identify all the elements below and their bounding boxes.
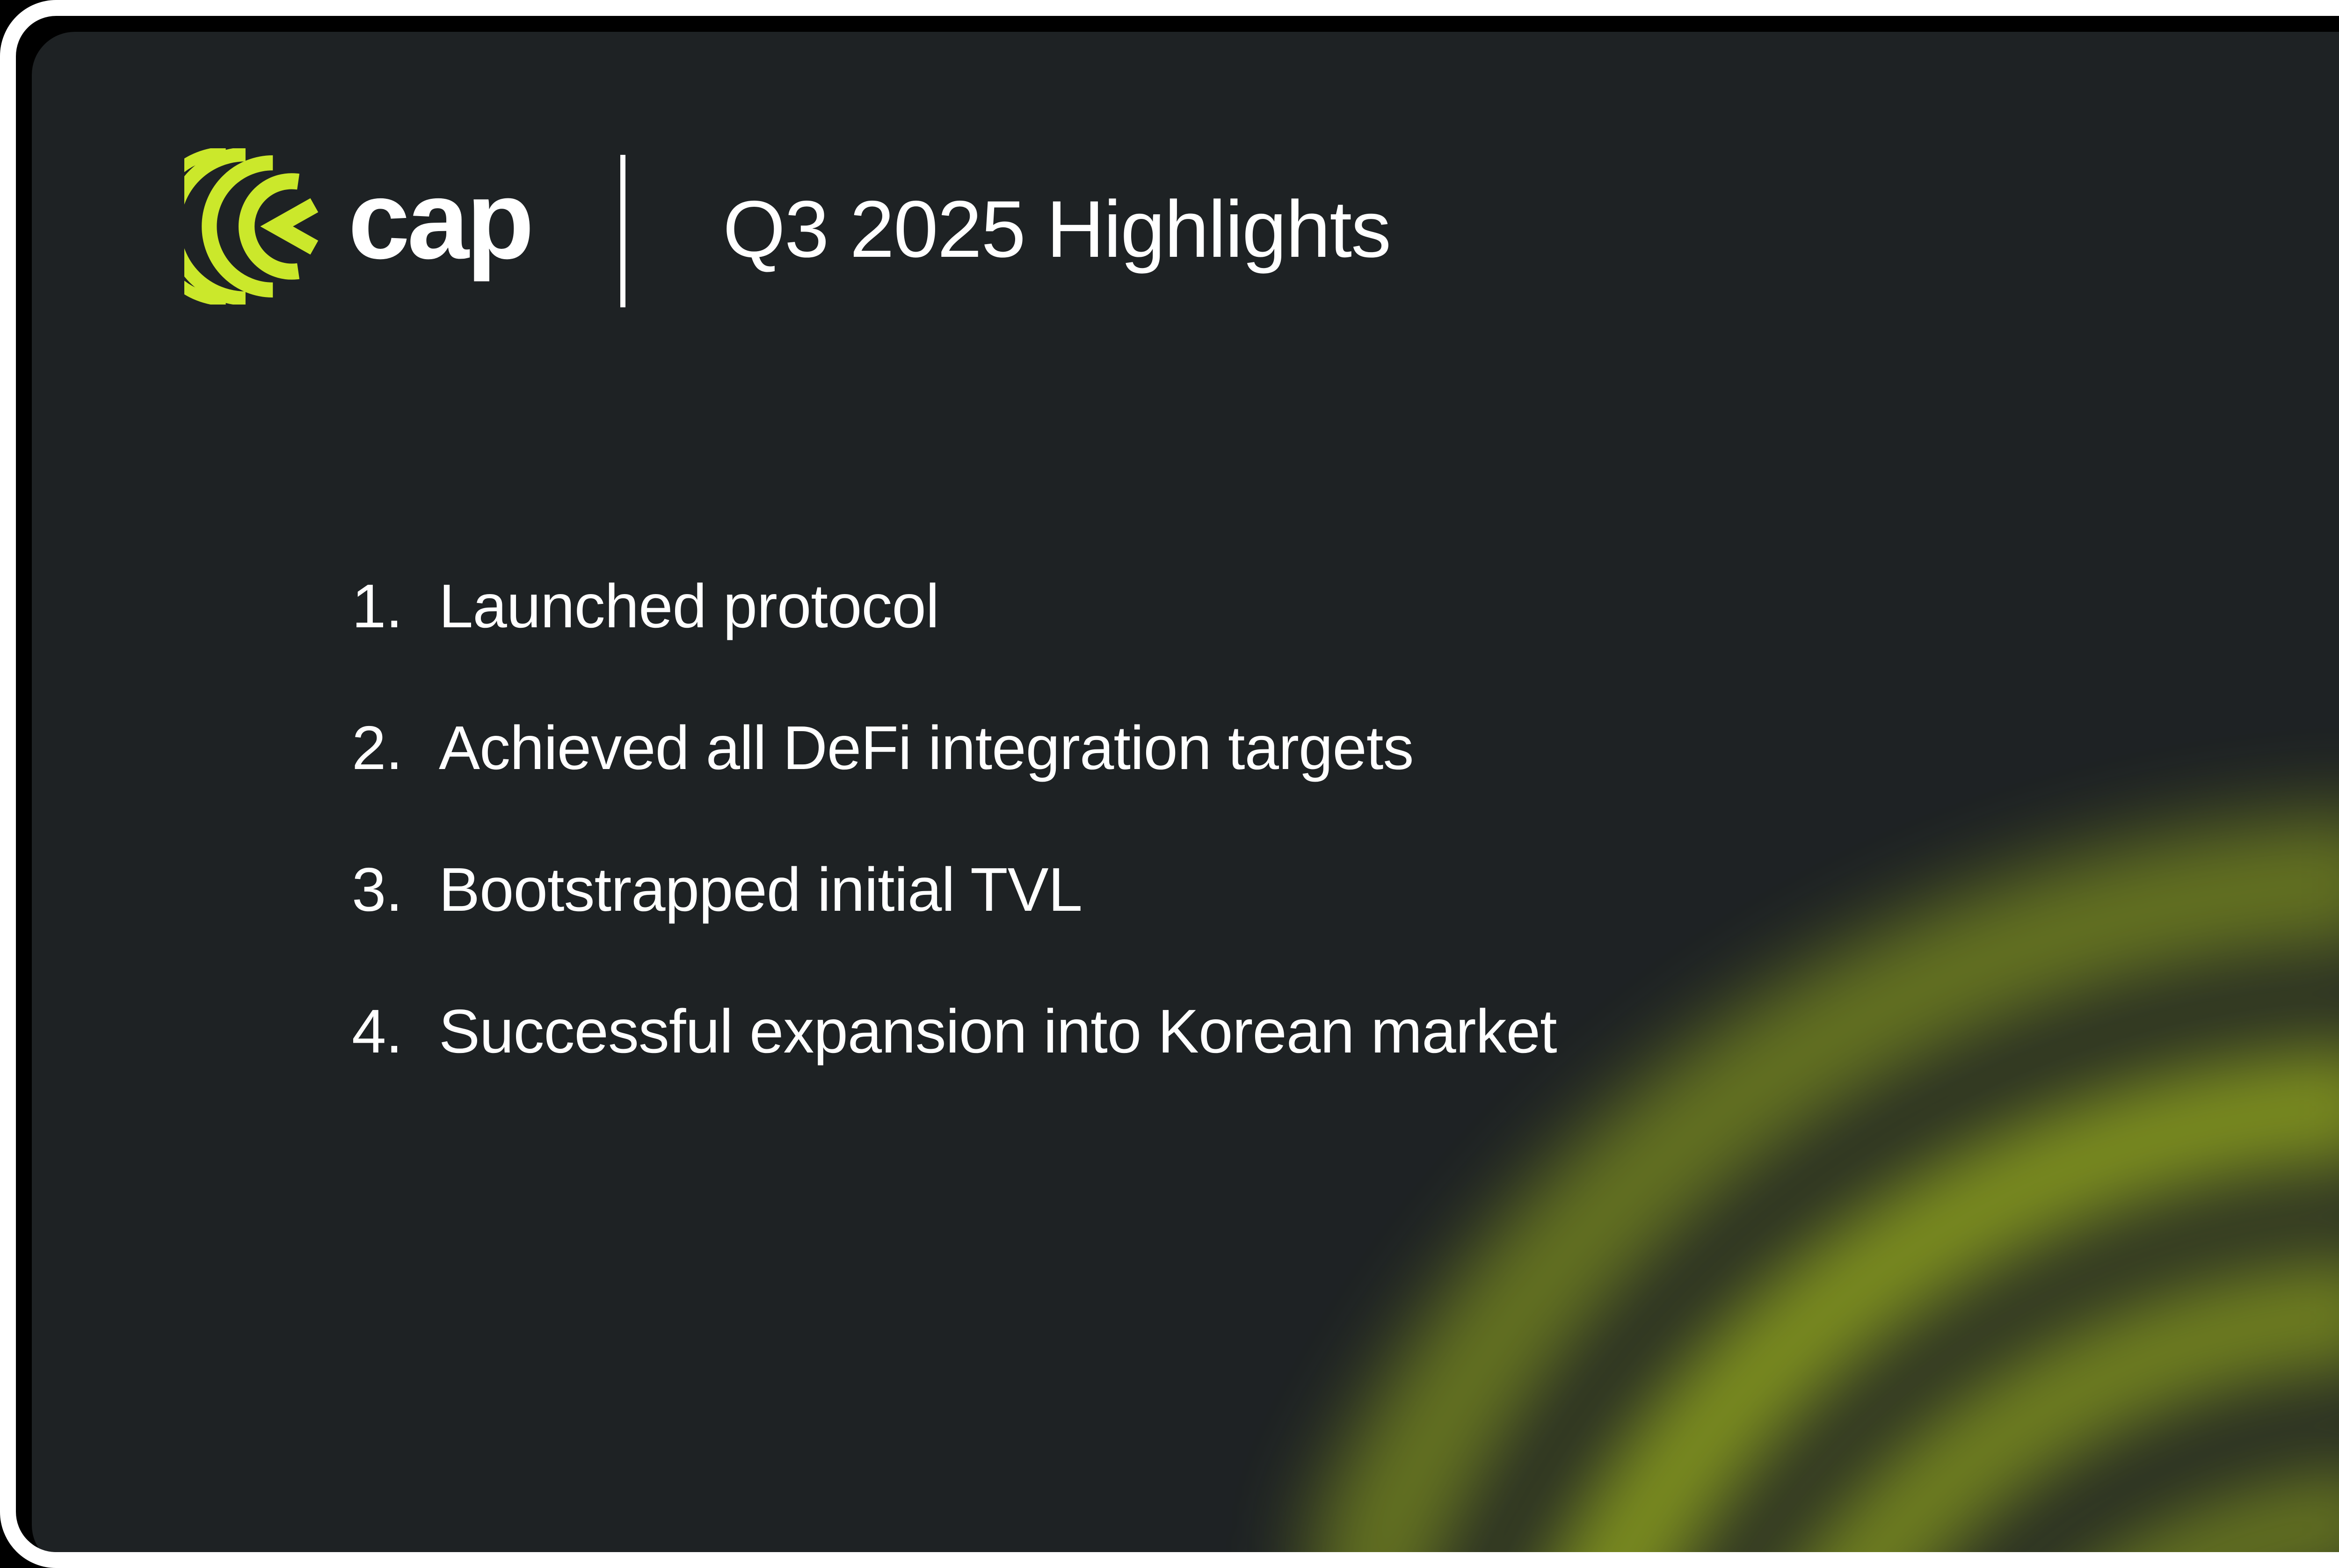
slide-header: cap Q3 2025 Highlights [184,128,1390,325]
list-item-label: Achieved all DeFi integration targets [439,717,1413,779]
list-item: 4. Successful expansion into Korean mark… [352,1001,1557,1062]
list-item-label: Successful expansion into Korean market [439,1001,1557,1062]
list-item-number: 3. [352,859,439,921]
cap-logo-icon [184,148,326,305]
highlights-list: 1. Launched protocol 2. Achieved all DeF… [352,575,1557,1062]
list-item-number: 1. [352,575,439,637]
brand-lockup: cap [184,148,531,305]
list-item-number: 4. [352,1001,439,1062]
list-item: 1. Launched protocol [352,575,1557,637]
slide-card: cap Q3 2025 Highlights 1. Launched proto… [32,32,2339,1568]
list-item-label: Bootstrapped initial TVL [439,859,1082,921]
list-item-label: Launched protocol [439,575,939,637]
page-title: Q3 2025 Highlights [723,189,1390,269]
slide-outline: cap Q3 2025 Highlights 1. Launched proto… [0,0,2339,1568]
list-item: 2. Achieved all DeFi integration targets [352,717,1557,779]
list-item: 3. Bootstrapped initial TVL [352,859,1557,921]
brand-wordmark: cap [348,176,531,277]
slide-backdrop: cap Q3 2025 Highlights 1. Launched proto… [0,0,2339,1549]
list-item-number: 2. [352,717,439,779]
header-divider [620,155,625,307]
